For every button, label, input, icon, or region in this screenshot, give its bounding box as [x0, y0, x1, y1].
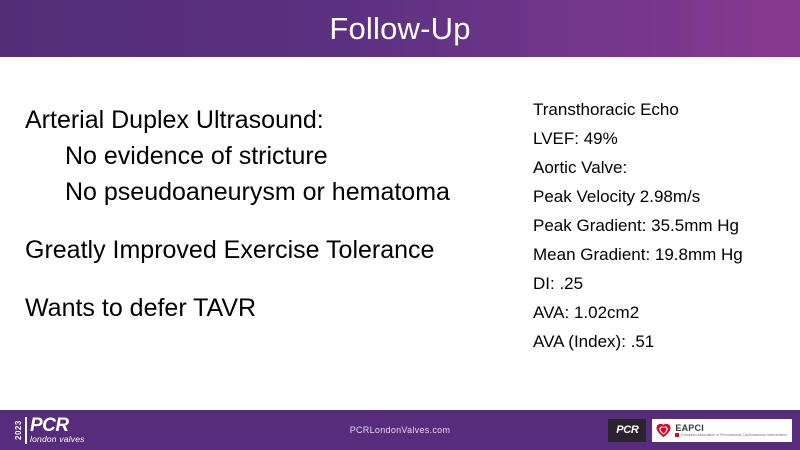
right-line-peak-gradient: Peak Gradient: 35.5mm Hg [533, 211, 795, 240]
right-line-ava-index: AVA (Index): .51 [533, 327, 795, 356]
left-line-sub-2: No pseudoaneurysm or hematoma [25, 174, 525, 210]
right-line-peak-velocity: Peak Velocity 2.98m/s [533, 182, 795, 211]
right-line-transthoracic-echo: Transthoracic Echo [533, 95, 795, 124]
eapci-tagline: European Association of Percutaneous Car… [681, 433, 787, 438]
left-line-sub-1: No evidence of stricture [25, 138, 525, 174]
heart-icon [656, 423, 671, 438]
right-line-lvef: LVEF: 49% [533, 124, 795, 153]
left-line-heading: Arterial Duplex Ultrasound: [25, 102, 525, 138]
slide: Follow-Up Arterial Duplex Ultrasound: No… [0, 0, 800, 450]
right-line-di: DI: .25 [533, 269, 795, 298]
logo-year: 2023 [14, 417, 23, 444]
slide-title-bar: Follow-Up [0, 0, 800, 57]
left-spacer-2 [25, 268, 525, 290]
eapci-name: EAPCI [675, 423, 787, 433]
logo-subtitle: london valves [30, 434, 85, 444]
left-spacer-1 [25, 210, 525, 232]
logo-text-block: PCR london valves [30, 417, 85, 444]
logo-divider [25, 417, 27, 444]
pcr-badge-label: PCR [616, 424, 638, 436]
right-content-column: Transthoracic Echo LVEF: 49% Aortic Valv… [533, 95, 795, 356]
pcr-badge: PCR [608, 419, 646, 442]
pcr-london-valves-logo: 2023 PCR london valves [14, 417, 85, 444]
eapci-text-block: EAPCI European Association of Percutaneo… [675, 423, 787, 438]
footer-badges: PCR EAPCI European Association of Percut… [608, 418, 792, 442]
slide-footer: 2023 PCR london valves PCRLondonValves.c… [0, 410, 800, 450]
page-title: Follow-Up [329, 13, 470, 44]
eapci-square-icon [675, 433, 679, 437]
eapci-badge: EAPCI European Association of Percutaneo… [652, 419, 792, 442]
slide-body: Arterial Duplex Ultrasound: No evidence … [0, 57, 800, 410]
footer-url-text: PCRLondonValves.com [350, 425, 451, 435]
right-line-aortic-valve: Aortic Valve: [533, 153, 795, 182]
logo-brand: PCR [30, 417, 85, 434]
left-line-defer-tavr: Wants to defer TAVR [25, 290, 525, 326]
right-line-mean-gradient: Mean Gradient: 19.8mm Hg [533, 240, 795, 269]
left-line-exercise-tolerance: Greatly Improved Exercise Tolerance [25, 232, 525, 268]
right-line-ava: AVA: 1.02cm2 [533, 298, 795, 327]
left-content-column: Arterial Duplex Ultrasound: No evidence … [25, 102, 525, 326]
eapci-subtitle-row: European Association of Percutaneous Car… [675, 433, 787, 438]
